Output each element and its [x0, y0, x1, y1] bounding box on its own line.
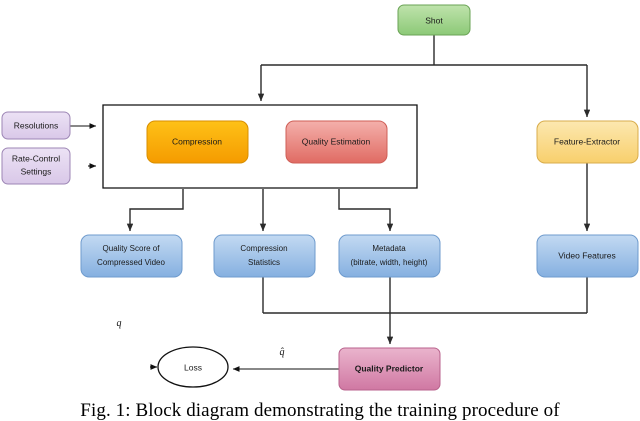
- node-quality-estimation[interactable]: Quality Estimation: [286, 121, 387, 163]
- node-compression[interactable]: Compression: [147, 121, 248, 163]
- edge-to-quality-score: [130, 189, 183, 231]
- edges-layer: [70, 35, 587, 369]
- node-compression-statistics-label-line2: Statistics: [248, 258, 280, 267]
- node-metadata-label-line1: Metadata: [372, 244, 406, 253]
- block-diagram: Shot Resolutions Rate-Control Settings C…: [0, 0, 640, 400]
- node-compression-label: Compression: [172, 136, 222, 146]
- node-shot[interactable]: Shot: [398, 5, 470, 35]
- node-quality-score[interactable]: Quality Score of Compressed Video: [81, 235, 182, 277]
- node-feature-extractor-label: Feature-Extractor: [554, 136, 620, 146]
- node-loss[interactable]: Loss: [158, 347, 228, 387]
- node-shot-label: Shot: [425, 15, 443, 25]
- node-rate-control-settings[interactable]: Rate-Control Settings: [2, 148, 70, 184]
- node-quality-predictor[interactable]: Quality Predictor: [339, 348, 440, 390]
- node-resolutions-label: Resolutions: [14, 120, 58, 130]
- node-quality-predictor-label: Quality Predictor: [355, 363, 424, 373]
- node-rate-control-label-line2: Settings: [21, 166, 52, 176]
- node-compression-statistics[interactable]: Compression Statistics: [214, 235, 315, 277]
- node-metadata[interactable]: Metadata (bitrate, width, height): [339, 235, 440, 277]
- node-video-features-label: Video Features: [558, 250, 616, 260]
- figure-caption: Fig. 1: Block diagram demonstrating the …: [0, 398, 640, 421]
- edge-to-metadata: [339, 189, 390, 231]
- node-video-features[interactable]: Video Features: [537, 235, 638, 277]
- node-rate-control-label-line1: Rate-Control: [12, 153, 60, 163]
- node-quality-estimation-label: Quality Estimation: [302, 136, 371, 146]
- node-resolutions[interactable]: Resolutions: [2, 112, 70, 139]
- figure-container: Shot Resolutions Rate-Control Settings C…: [0, 0, 640, 421]
- node-metadata-label-line2: (bitrate, width, height): [351, 258, 428, 267]
- node-loss-label: Loss: [184, 362, 202, 372]
- node-compression-statistics-label-line1: Compression: [240, 244, 287, 253]
- node-quality-score-label-line2: Compressed Video: [97, 258, 165, 267]
- edge-label-q: q: [117, 318, 122, 329]
- node-quality-score-label-line1: Quality Score of: [103, 244, 161, 253]
- edge-label-q-hat: q̂: [280, 347, 285, 358]
- node-feature-extractor[interactable]: Feature-Extractor: [537, 121, 638, 163]
